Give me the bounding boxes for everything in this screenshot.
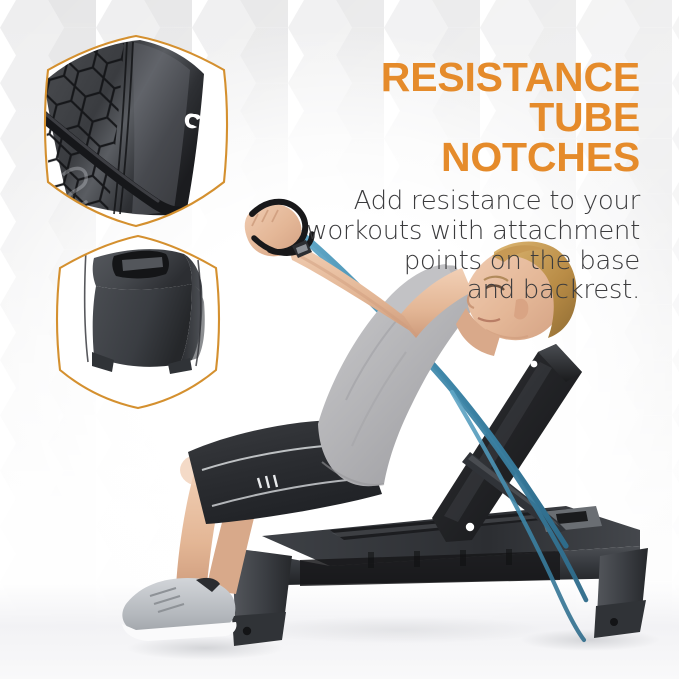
floor-shadow-right bbox=[520, 629, 660, 651]
head-jaw-shade bbox=[486, 330, 528, 338]
base-front-face bbox=[232, 546, 640, 586]
backrest-face-highlight bbox=[444, 362, 552, 522]
backrest-rivets bbox=[427, 361, 537, 532]
person-shoe bbox=[122, 578, 237, 641]
base-rail-highlight bbox=[332, 512, 572, 537]
head-mouth bbox=[478, 318, 500, 321]
backrest-panel bbox=[432, 344, 582, 542]
tshirt-fold-1 bbox=[346, 312, 404, 400]
backrest-rivet bbox=[463, 431, 472, 440]
shoe-laces bbox=[150, 588, 184, 612]
backrest-side-edge bbox=[538, 344, 582, 382]
person-sock bbox=[174, 580, 206, 606]
tshirt-fold-2 bbox=[352, 352, 406, 446]
base-leg-right-hole bbox=[610, 618, 618, 626]
closeup-endcap-face bbox=[93, 284, 192, 367]
backrest-rivet bbox=[499, 374, 508, 383]
floor-shadow-left bbox=[127, 636, 283, 660]
shorts-piping-2 bbox=[212, 478, 376, 506]
callout-base-image bbox=[42, 232, 234, 412]
body-copy: Add resistance to your workouts with att… bbox=[262, 187, 640, 306]
bench-base bbox=[232, 506, 648, 646]
copy-block: RESISTANCE TUBE NOTCHES Add resistance t… bbox=[262, 58, 640, 306]
base-ribs bbox=[368, 549, 512, 568]
shorts-body bbox=[188, 420, 382, 524]
base-inner-recess bbox=[300, 551, 560, 586]
person-far-leg bbox=[206, 470, 266, 594]
page-title: RESISTANCE TUBE NOTCHES bbox=[262, 58, 640, 177]
base-rail bbox=[330, 509, 580, 540]
base-tube-notch-block bbox=[540, 506, 602, 532]
person-knee bbox=[180, 454, 220, 486]
person-shin bbox=[176, 466, 226, 594]
backrest-rivet bbox=[466, 523, 474, 531]
callout-base-notch bbox=[42, 232, 234, 412]
person-neck bbox=[456, 308, 500, 356]
bench-backrest bbox=[427, 344, 582, 542]
callout-backrest-notch bbox=[28, 32, 244, 232]
base-leg-left bbox=[232, 548, 292, 644]
promo-image-canvas: RESISTANCE TUBE NOTCHES Add resistance t… bbox=[0, 0, 679, 679]
base-leg-left-foot bbox=[232, 612, 286, 646]
base-leg-left-hole bbox=[243, 627, 251, 635]
floor-shadow-centre bbox=[250, 616, 550, 644]
shorts-logo bbox=[258, 475, 277, 488]
base-leg-right-foot bbox=[594, 600, 646, 638]
shoe-sole bbox=[122, 622, 237, 641]
base-top-deck bbox=[262, 506, 640, 566]
floor-reflection bbox=[0, 583, 679, 679]
base-leg-right bbox=[596, 548, 648, 636]
callout-backrest-image bbox=[28, 32, 244, 232]
shorts-piping-1 bbox=[202, 444, 366, 470]
backrest-support-strut bbox=[462, 452, 566, 534]
backrest-support-strut-hl bbox=[468, 455, 560, 527]
resistance-tube-return bbox=[452, 392, 584, 640]
backrest-rivet bbox=[427, 488, 436, 497]
shoe-upper bbox=[122, 578, 235, 632]
person-shorts bbox=[188, 420, 382, 524]
backrest-rivet bbox=[531, 361, 538, 368]
person-thigh bbox=[196, 444, 322, 520]
base-tube-notch-slot bbox=[556, 511, 588, 524]
tshirt-hem bbox=[322, 462, 384, 485]
shoe-heel-tab bbox=[196, 578, 220, 592]
